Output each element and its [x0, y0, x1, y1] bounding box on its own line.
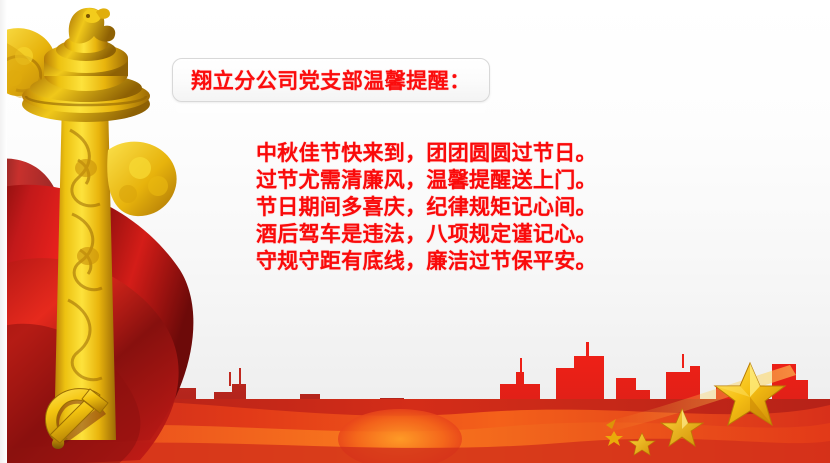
left-edge-strip [0, 0, 7, 463]
title-banner-reflection [176, 103, 486, 117]
verse-block: 中秋佳节快来到，团团圆圆过节日。 过节尤需清廉风，温馨提醒送上门。 节日期间多喜… [256, 140, 616, 275]
party-hammer-sickle-emblem-icon [38, 381, 124, 457]
verse-line-3: 节日期间多喜庆，纪律规矩记心间。 [256, 194, 616, 221]
verse-line-1: 中秋佳节快来到，团团圆圆过节日。 [256, 140, 616, 167]
verse-line-5: 守规守距有底线，廉洁过节保平安。 [256, 248, 616, 275]
slide-canvas: 翔立分公司党支部温馨提醒： 中秋佳节快来到，团团圆圆过节日。 过节尤需清廉风，温… [0, 0, 830, 463]
gold-stars-icon [600, 353, 830, 463]
title-banner[interactable]: 翔立分公司党支部温馨提醒： [172, 58, 490, 102]
title-banner-text: 翔立分公司党支部温馨提醒： [191, 65, 471, 95]
verse-line-2: 过节尤需清廉风，温馨提醒送上门。 [256, 167, 616, 194]
verse-line-4: 酒后驾车是违法，八项规定谨记心。 [256, 221, 616, 248]
